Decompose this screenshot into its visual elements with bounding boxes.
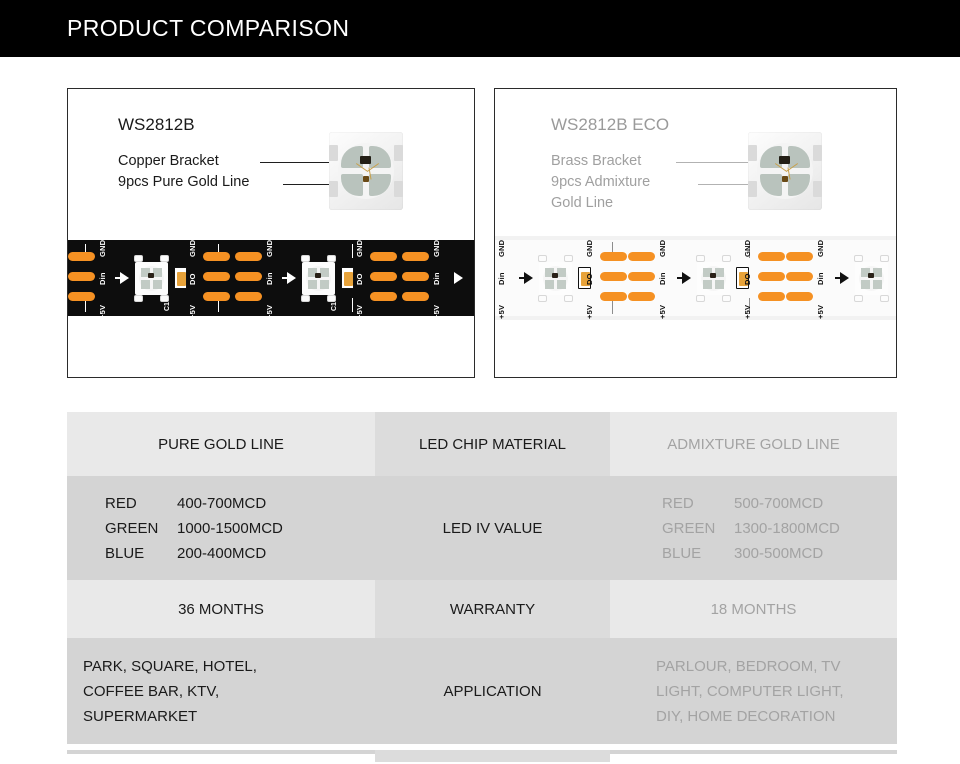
led-quadrant <box>715 268 724 277</box>
chip-quadrant <box>369 174 391 196</box>
chip-quadrant <box>341 174 363 196</box>
led-leg <box>564 255 573 262</box>
pad-label-gnd: GND <box>816 240 825 257</box>
led-leg <box>564 295 573 302</box>
strip-rail <box>494 236 897 240</box>
led-quadrant <box>861 280 870 289</box>
chip-tab <box>394 145 403 161</box>
strip-led-package <box>539 262 572 295</box>
label-warranty: WARRANTY <box>391 597 594 622</box>
pad-label-din: Din <box>497 272 506 285</box>
label-application: APPLICATION <box>391 679 594 704</box>
pad-label-gnd: GND <box>188 240 197 257</box>
led-leg <box>538 255 547 262</box>
led-leg <box>854 295 863 302</box>
led-strip-right: GND Din +5V GND DO +5V <box>494 236 897 320</box>
pad-label-5v: +5V <box>355 305 364 319</box>
value-pure-gold-line: PURE GOLD LINE <box>83 432 359 457</box>
led-quadrant <box>320 268 329 277</box>
chip-tab <box>329 181 338 197</box>
cut-mark <box>352 244 353 258</box>
led-leg <box>880 295 889 302</box>
solder-pad <box>786 252 813 261</box>
led-strip-left: GND Din +5V C1 GND DO +5V <box>67 236 475 320</box>
pad-label-5v: +5V <box>497 305 506 319</box>
cell-label-iv-value: LED IV VALUE <box>375 476 610 580</box>
solder-pad <box>402 292 429 301</box>
pad-label-gnd: GND <box>497 240 506 257</box>
pad-label-do: DO <box>355 273 364 285</box>
footer-middle <box>375 750 610 762</box>
cell-label-chip-material: LED CHIP MATERIAL <box>375 412 610 476</box>
table-row-chip-material: PURE GOLD LINE LED CHIP MATERIAL ADMIXTU… <box>67 412 897 476</box>
chip-quadrant <box>369 146 391 168</box>
led-die <box>552 273 558 278</box>
product-panel-ws2812b: WS2812B Copper Bracket 9pcs Pure Gold Li… <box>67 88 475 378</box>
led-leg <box>327 255 336 262</box>
application-list-right: PARLOUR, BEDROOM, TV LIGHT, COMPUTER LIG… <box>626 654 844 729</box>
solder-pad <box>786 292 813 301</box>
iv-row-red: RED 400-700MCD <box>105 491 283 516</box>
pad-label-5v: +5V <box>265 305 274 319</box>
chip-die-secondary <box>782 176 788 182</box>
comparison-table: PURE GOLD LINE LED CHIP MATERIAL ADMIXTU… <box>67 412 897 744</box>
application-line: COFFEE BAR, KTV, <box>83 679 257 704</box>
callout-brass-bracket: Brass Bracket <box>551 151 650 172</box>
iv-row-green: GREEN 1300-1800MCD <box>662 516 840 541</box>
iv-label-green: GREEN <box>105 516 177 541</box>
iv-label-blue: BLUE <box>662 541 734 566</box>
product-panel-ws2812b-eco: WS2812B ECO Brass Bracket 9pcs Admixture… <box>494 88 897 378</box>
solder-pad <box>600 252 627 261</box>
pad-label-5v: +5V <box>188 305 197 319</box>
led-chip-closeup-left <box>329 132 403 210</box>
table-footer-strip <box>67 750 897 762</box>
application-line: DIY, HOME DECORATION <box>656 704 844 729</box>
iv-value-blue: 200-400MCD <box>177 541 266 566</box>
solder-pad <box>402 252 429 261</box>
solder-pad <box>203 292 230 301</box>
pad-label-do: DO <box>585 273 594 285</box>
iv-label-red: RED <box>662 491 734 516</box>
capacitor <box>341 267 354 289</box>
pad-label-5v: +5V <box>98 305 107 319</box>
callout-list-left: Copper Bracket 9pcs Pure Gold Line <box>118 151 249 193</box>
application-line: LIGHT, COMPUTER LIGHT, <box>656 679 844 704</box>
application-line: PARK, SQUARE, HOTEL, <box>83 654 257 679</box>
solder-pad <box>758 252 785 261</box>
footer-left <box>67 750 375 754</box>
panel-title-right: WS2812B ECO <box>551 115 669 135</box>
solder-pad <box>600 272 627 281</box>
solder-pad <box>600 292 627 301</box>
chip-tab <box>813 145 822 161</box>
table-row-application: PARK, SQUARE, HOTEL, COFFEE BAR, KTV, SU… <box>67 638 897 744</box>
led-leg <box>538 295 547 302</box>
solder-pad <box>628 272 655 281</box>
iv-row-blue: BLUE 300-500MCD <box>662 541 840 566</box>
led-lens <box>701 266 726 291</box>
iv-value-red: 400-700MCD <box>177 491 266 516</box>
led-lens <box>543 266 568 291</box>
iv-label-green: GREEN <box>662 516 734 541</box>
solder-pad <box>68 292 95 301</box>
led-leg <box>722 295 731 302</box>
table-row-iv-value: RED 400-700MCD GREEN 1000-1500MCD BLUE 2… <box>67 476 897 580</box>
led-die <box>710 273 716 278</box>
chip-die <box>360 156 371 164</box>
chip-tab <box>748 145 757 161</box>
chip-die <box>779 156 790 164</box>
direction-arrow-tail <box>282 277 289 279</box>
solder-pad <box>758 272 785 281</box>
cell-label-warranty: WARRANTY <box>375 580 610 638</box>
footer-right <box>610 750 897 754</box>
cell-left-iv-value: RED 400-700MCD GREEN 1000-1500MCD BLUE 2… <box>67 476 375 580</box>
pad-label-5v: +5V <box>585 305 594 319</box>
led-chip-closeup-right <box>748 132 822 210</box>
page-header: PRODUCT COMPARISON <box>0 0 960 57</box>
strip-rail <box>494 316 897 320</box>
pad-label-gnd: GND <box>432 240 441 257</box>
direction-arrow-tail <box>835 277 842 279</box>
pad-label-gnd: GND <box>98 240 107 257</box>
pad-label-din: Din <box>816 272 825 285</box>
value-warranty-right: 18 MONTHS <box>626 597 881 622</box>
led-quadrant <box>715 280 724 289</box>
value-warranty-left: 36 MONTHS <box>83 597 359 622</box>
chip-tab <box>748 181 757 197</box>
iv-label-red: RED <box>105 491 177 516</box>
cell-left-application: PARK, SQUARE, HOTEL, COFFEE BAR, KTV, SU… <box>67 638 375 744</box>
application-line: PARLOUR, BEDROOM, TV <box>656 654 844 679</box>
iv-value-green: 1300-1800MCD <box>734 516 840 541</box>
strip-led-package <box>135 262 168 295</box>
direction-arrow-tail <box>115 277 122 279</box>
led-quadrant <box>308 280 317 289</box>
iv-value-blue: 300-500MCD <box>734 541 823 566</box>
chip-tab <box>394 181 403 197</box>
iv-value-red: 500-700MCD <box>734 491 823 516</box>
pad-label-5v: +5V <box>743 305 752 319</box>
led-quadrant <box>703 280 712 289</box>
chip-quadrant <box>788 174 810 196</box>
pad-label-5v: +5V <box>432 305 441 319</box>
iv-list-right: RED 500-700MCD GREEN 1300-1800MCD BLUE 3… <box>626 491 840 566</box>
iv-row-red: RED 500-700MCD <box>662 491 840 516</box>
led-leg <box>696 295 705 302</box>
capacitor-label: C1 <box>164 302 171 311</box>
iv-label-blue: BLUE <box>105 541 177 566</box>
chip-lens <box>757 143 813 199</box>
led-leg <box>722 255 731 262</box>
solder-pad <box>203 272 230 281</box>
led-quadrant <box>153 268 162 277</box>
solder-pad <box>68 252 95 261</box>
callout-admixture-gold-line: 9pcs Admixture <box>551 172 650 193</box>
solder-pad <box>402 272 429 281</box>
chip-quadrant <box>788 146 810 168</box>
led-lens <box>859 266 884 291</box>
led-quadrant <box>320 280 329 289</box>
solder-pad <box>203 252 230 261</box>
cell-left-chip-material: PURE GOLD LINE <box>67 412 375 476</box>
led-die <box>868 273 874 278</box>
led-quadrant <box>141 280 150 289</box>
pad-label-din: Din <box>98 272 107 285</box>
led-die <box>148 273 154 278</box>
callout-copper-bracket: Copper Bracket <box>118 151 249 172</box>
led-quadrant <box>557 268 566 277</box>
led-quadrant <box>545 280 554 289</box>
label-led-iv-value: LED IV VALUE <box>391 516 594 541</box>
led-lens <box>306 266 331 291</box>
application-line: SUPERMARKET <box>83 704 257 729</box>
direction-arrow <box>454 272 463 284</box>
led-quadrant <box>153 280 162 289</box>
iv-row-blue: BLUE 200-400MCD <box>105 541 283 566</box>
solder-pad <box>758 292 785 301</box>
solder-pad <box>370 292 397 301</box>
capacitor-body <box>177 272 186 286</box>
pad-label-din: Din <box>658 272 667 285</box>
callout-list-right: Brass Bracket 9pcs Admixture Gold Line <box>551 151 650 214</box>
chip-tab <box>329 145 338 161</box>
cell-left-warranty: 36 MONTHS <box>67 580 375 638</box>
pad-label-5v: +5V <box>816 305 825 319</box>
direction-arrow-tail <box>519 277 526 279</box>
application-list-left: PARK, SQUARE, HOTEL, COFFEE BAR, KTV, SU… <box>83 654 257 729</box>
led-leg <box>301 255 310 262</box>
solder-pad <box>786 272 813 281</box>
solder-pad <box>235 252 262 261</box>
panel-title-left: WS2812B <box>118 115 195 135</box>
label-led-chip-material: LED CHIP MATERIAL <box>391 432 594 457</box>
solder-pad <box>370 272 397 281</box>
led-leg <box>327 295 336 302</box>
pad-label-gnd: GND <box>658 240 667 257</box>
cell-right-chip-material: ADMIXTURE GOLD LINE <box>610 412 897 476</box>
solder-pad <box>370 252 397 261</box>
led-leg <box>160 295 169 302</box>
pad-label-do: DO <box>188 273 197 285</box>
cell-right-iv-value: RED 500-700MCD GREEN 1300-1800MCD BLUE 3… <box>610 476 897 580</box>
iv-row-green: GREEN 1000-1500MCD <box>105 516 283 541</box>
capacitor-body <box>344 272 353 286</box>
value-admixture-gold-line: ADMIXTURE GOLD LINE <box>626 432 881 457</box>
solder-pad <box>235 272 262 281</box>
pad-label-do: DO <box>743 273 752 285</box>
led-leg <box>134 295 143 302</box>
pad-label-5v: +5V <box>658 305 667 319</box>
led-quadrant <box>873 280 882 289</box>
solder-pad <box>628 252 655 261</box>
led-leg <box>160 255 169 262</box>
led-leg <box>854 255 863 262</box>
pad-label-din: Din <box>432 272 441 285</box>
table-row-warranty: 36 MONTHS WARRANTY 18 MONTHS <box>67 580 897 638</box>
led-lens <box>139 266 164 291</box>
led-quadrant <box>873 268 882 277</box>
chip-die-secondary <box>363 176 369 182</box>
cell-label-application: APPLICATION <box>375 638 610 744</box>
pad-label-gnd: GND <box>585 240 594 257</box>
cut-mark <box>352 298 353 312</box>
capacitor-label: C1 <box>331 302 338 311</box>
chip-tab <box>813 181 822 197</box>
chip-quadrant <box>760 174 782 196</box>
chip-lens <box>338 143 394 199</box>
led-quadrant <box>557 280 566 289</box>
led-leg <box>880 255 889 262</box>
direction-arrow-tail <box>677 277 684 279</box>
iv-list-left: RED 400-700MCD GREEN 1000-1500MCD BLUE 2… <box>83 491 283 566</box>
strip-led-package <box>855 262 888 295</box>
callout-admixture-gold-line-2: Gold Line <box>551 193 650 214</box>
cell-right-warranty: 18 MONTHS <box>610 580 897 638</box>
led-leg <box>696 255 705 262</box>
solder-pad <box>628 292 655 301</box>
pad-label-gnd: GND <box>265 240 274 257</box>
strip-led-package <box>302 262 335 295</box>
solder-pad <box>235 292 262 301</box>
solder-pad <box>68 272 95 281</box>
capacitor <box>174 267 187 289</box>
callout-pure-gold-line: 9pcs Pure Gold Line <box>118 172 249 193</box>
pad-label-gnd: GND <box>743 240 752 257</box>
led-leg <box>134 255 143 262</box>
pad-label-gnd: GND <box>355 240 364 257</box>
strip-led-package <box>697 262 730 295</box>
pad-label-din: Din <box>265 272 274 285</box>
led-leg <box>301 295 310 302</box>
led-die <box>315 273 321 278</box>
cell-right-application: PARLOUR, BEDROOM, TV LIGHT, COMPUTER LIG… <box>610 638 897 744</box>
iv-value-green: 1000-1500MCD <box>177 516 283 541</box>
page-title: PRODUCT COMPARISON <box>67 15 349 42</box>
